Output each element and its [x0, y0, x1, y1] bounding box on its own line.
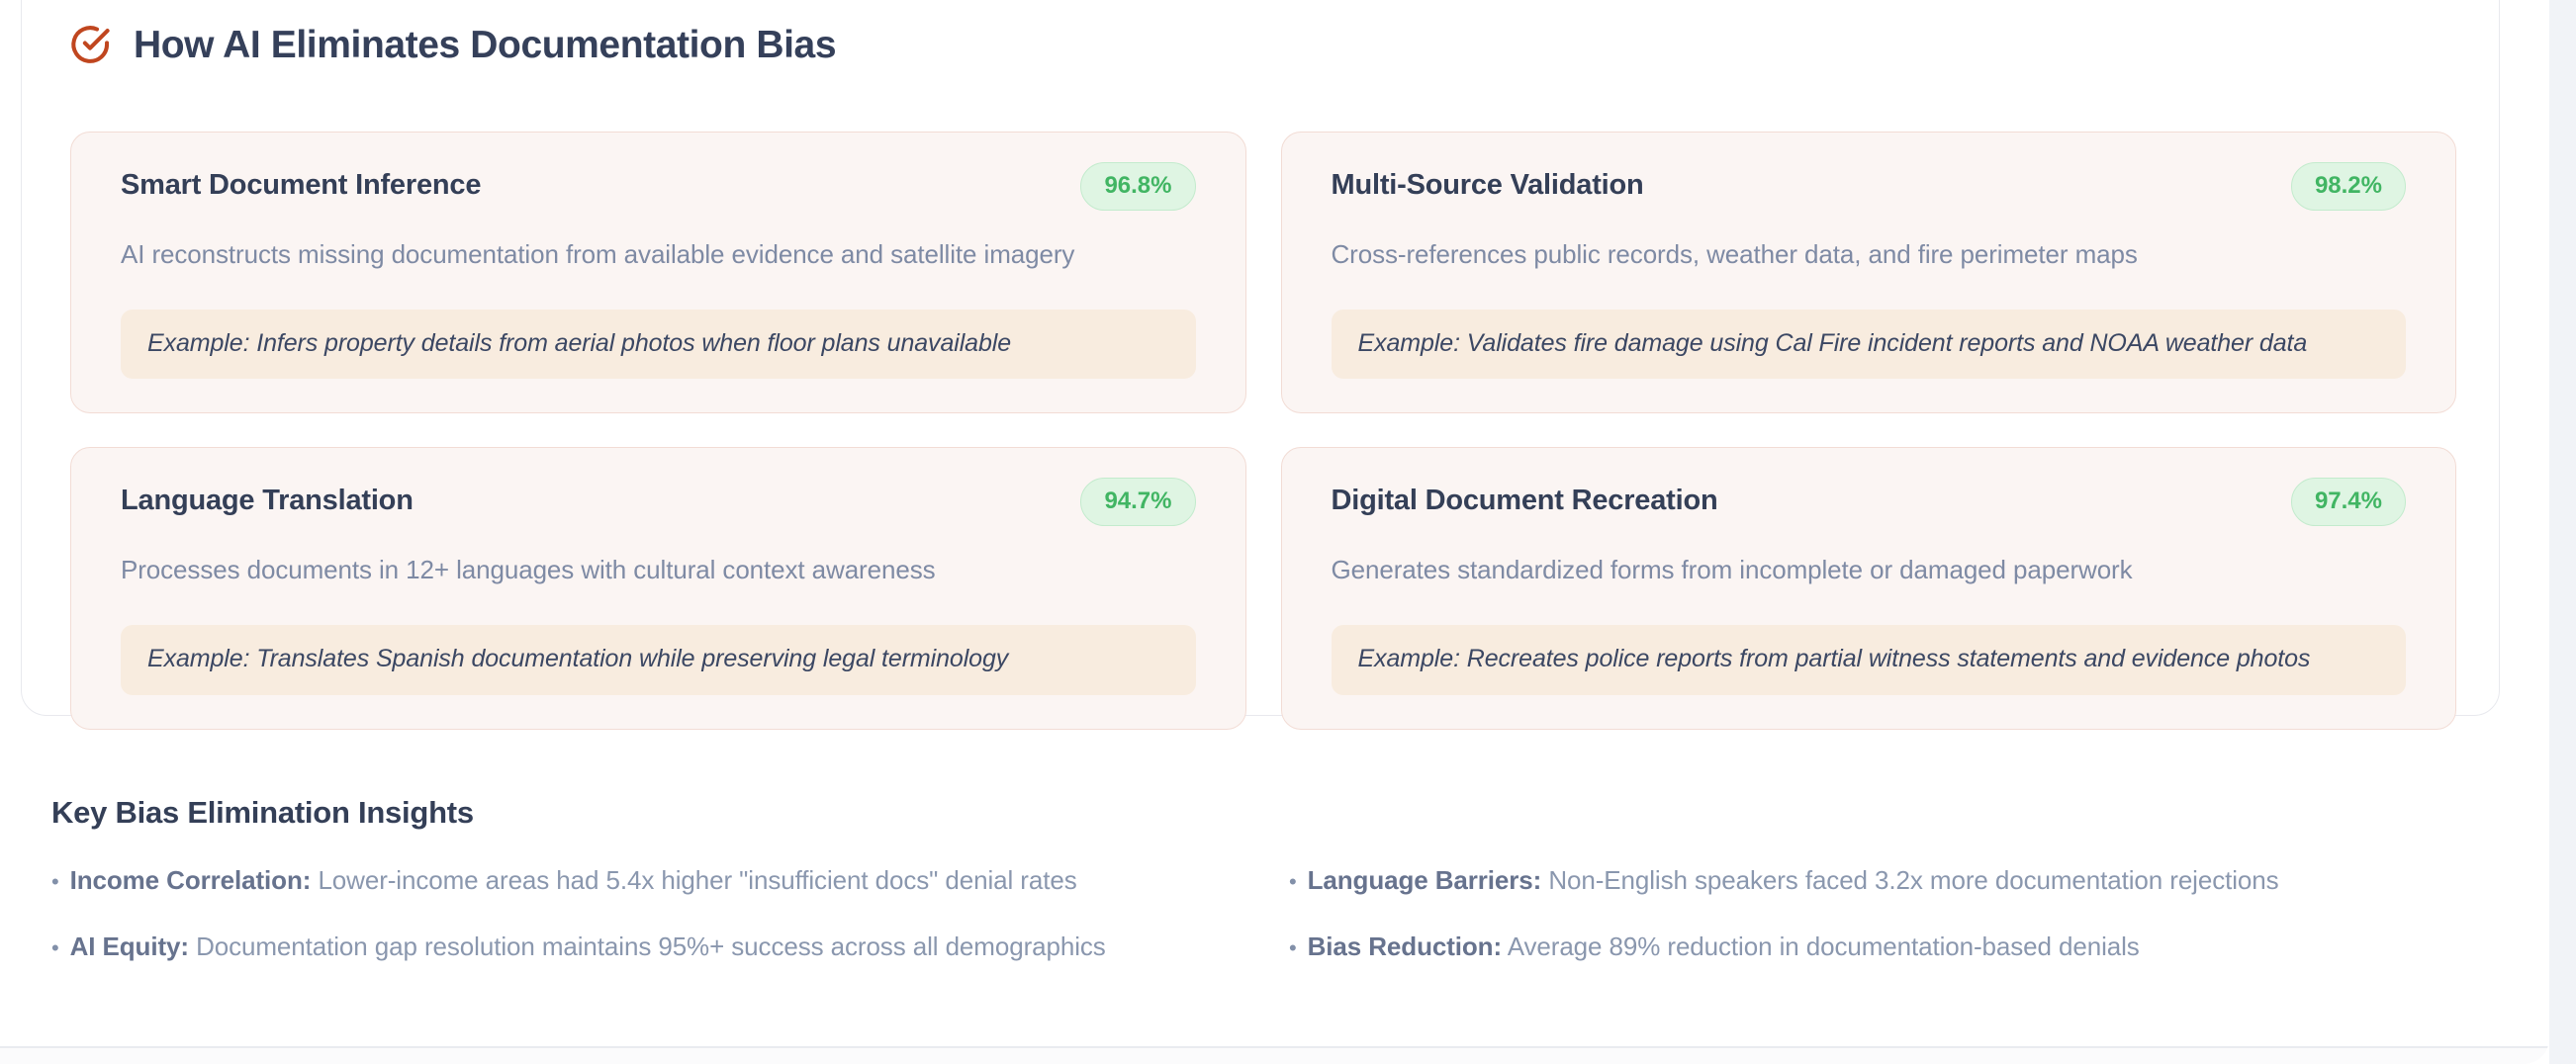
feature-example-box: Example: Infers property details from ae… — [121, 310, 1196, 379]
feature-title: Language Translation — [121, 486, 414, 517]
feature-card-grid: Smart Document Inference 96.8% AI recons… — [70, 132, 2456, 730]
insight-item: • AI Equity: Documentation gap resolutio… — [51, 931, 1257, 964]
feature-title: Smart Document Inference — [121, 170, 481, 202]
accuracy-badge: 98.2% — [2291, 162, 2406, 211]
feature-description: AI reconstructs missing documentation fr… — [121, 237, 1196, 272]
bullet-icon: • — [1289, 871, 1297, 893]
feature-example-box: Example: Translates Spanish documentatio… — [121, 625, 1196, 694]
page-title: How AI Eliminates Documentation Bias — [134, 26, 836, 64]
feature-card-header: Language Translation 94.7% — [121, 480, 1196, 523]
bottom-strip — [0, 1048, 2549, 1064]
insight-label: Bias Reduction: — [1308, 931, 1502, 961]
documentation-bias-section: How AI Eliminates Documentation Bias Sma… — [21, 0, 2500, 716]
insight-label: Language Barriers: — [1308, 865, 1542, 895]
feature-card-header: Multi-Source Validation 98.2% — [1332, 164, 2407, 208]
section-header: How AI Eliminates Documentation Bias — [22, 17, 2499, 72]
feature-example-text: Example: Recreates police reports from p… — [1358, 645, 2311, 672]
feature-example-text: Example: Translates Spanish documentatio… — [147, 645, 1008, 672]
feature-description: Cross-references public records, weather… — [1332, 237, 2407, 272]
feature-card[interactable]: Digital Document Recreation 97.4% Genera… — [1281, 447, 2457, 729]
page-shell: How AI Eliminates Documentation Bias Sma… — [0, 0, 2549, 1064]
insight-item: • Income Correlation: Lower-income areas… — [51, 864, 1257, 898]
feature-example-box: Example: Validates fire damage using Cal… — [1332, 310, 2407, 379]
insights-title: Key Bias Elimination Insights — [51, 797, 2495, 828]
accuracy-badge: 94.7% — [1080, 478, 1195, 526]
insight-label: Income Correlation: — [70, 865, 312, 895]
feature-title: Multi-Source Validation — [1332, 170, 1644, 202]
feature-description: Generates standardized forms from incomp… — [1332, 553, 2407, 587]
bullet-icon: • — [1289, 937, 1297, 959]
feature-card[interactable]: Language Translation 94.7% Processes doc… — [70, 447, 1246, 729]
insight-text: Lower-income areas had 5.4x higher "insu… — [318, 865, 1076, 895]
circle-check-icon — [68, 23, 112, 66]
feature-example-box: Example: Recreates police reports from p… — [1332, 625, 2407, 694]
insights-grid: • Income Correlation: Lower-income areas… — [51, 864, 2495, 964]
insight-item: • Language Barriers: Non-English speaker… — [1289, 864, 2495, 898]
accuracy-badge: 97.4% — [2291, 478, 2406, 526]
insight-text: Average 89% reduction in documentation-b… — [1508, 931, 2140, 961]
feature-card[interactable]: Smart Document Inference 96.8% AI recons… — [70, 132, 1246, 413]
key-insights-section: Key Bias Elimination Insights • Income C… — [51, 797, 2495, 964]
insight-text: Non-English speakers faced 3.2x more doc… — [1548, 865, 2278, 895]
insight-label: AI Equity: — [70, 931, 189, 961]
insight-item: • Bias Reduction: Average 89% reduction … — [1289, 931, 2495, 964]
bullet-icon: • — [51, 937, 59, 959]
bullet-icon: • — [51, 871, 59, 893]
insight-text: Documentation gap resolution maintains 9… — [196, 931, 1106, 961]
feature-example-text: Example: Infers property details from ae… — [147, 329, 1011, 357]
accuracy-badge: 96.8% — [1080, 162, 1195, 211]
feature-description: Processes documents in 12+ languages wit… — [121, 553, 1196, 587]
feature-title: Digital Document Recreation — [1332, 486, 1718, 517]
feature-example-text: Example: Validates fire damage using Cal… — [1358, 329, 2308, 357]
feature-card-header: Smart Document Inference 96.8% — [121, 164, 1196, 208]
feature-card-header: Digital Document Recreation 97.4% — [1332, 480, 2407, 523]
feature-card[interactable]: Multi-Source Validation 98.2% Cross-refe… — [1281, 132, 2457, 413]
page-gutter — [2549, 0, 2576, 1064]
